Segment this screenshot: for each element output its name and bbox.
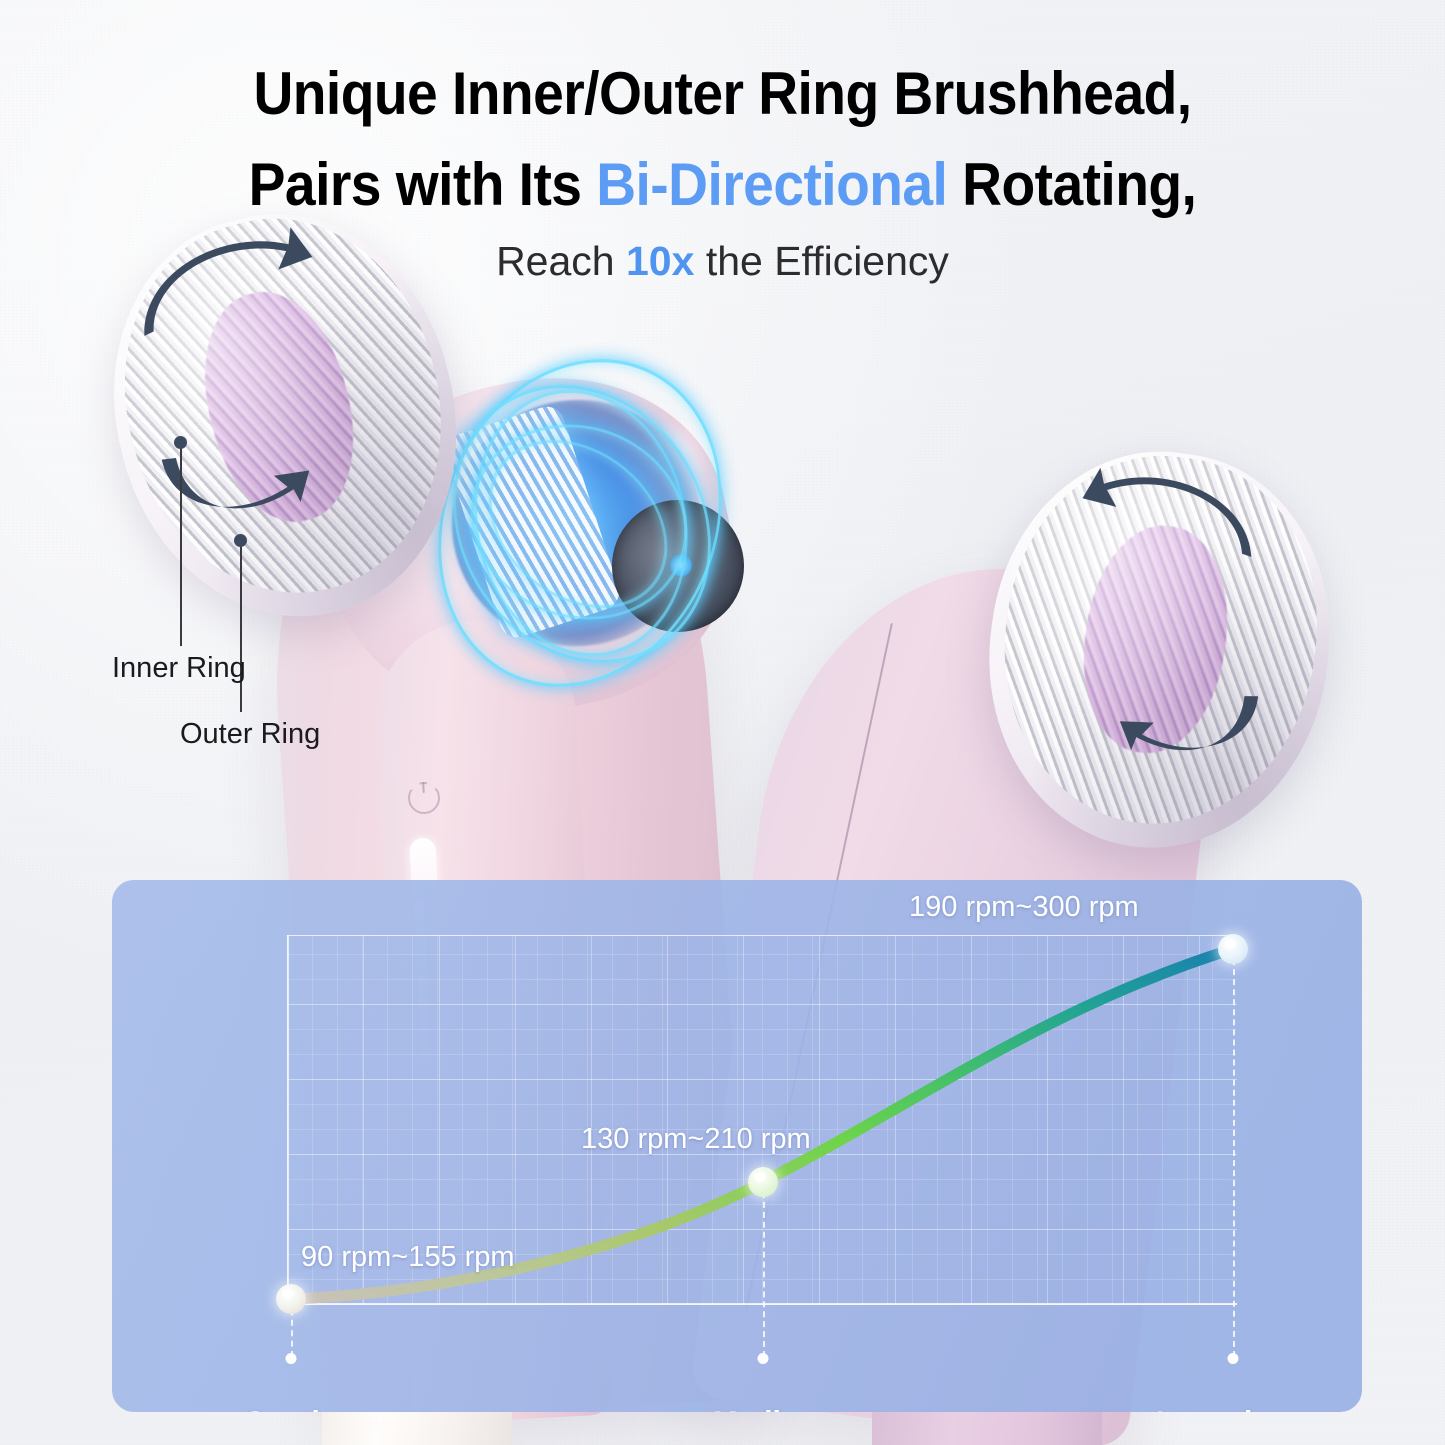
marker-gloss	[754, 1172, 766, 1182]
headline-line-1: Unique Inner/Outer Ring Brushhead,	[58, 48, 1387, 139]
callout-label-inner-ring: Inner Ring	[112, 652, 246, 685]
headline-line-1-text: Unique Inner/Outer Ring Brushhead,	[253, 60, 1191, 127]
drop-dot-gentle	[286, 1353, 297, 1364]
data-point-medium[interactable]	[748, 1167, 778, 1197]
inner-ring-marker-dot	[174, 436, 187, 449]
x-axis-label-medium: Medium	[713, 1405, 826, 1412]
headline-line-2-post: Rotating,	[947, 151, 1196, 218]
headline-accent-text: Bi-Directional	[596, 151, 947, 218]
outer-ring-marker-dot	[234, 534, 247, 547]
inner-ring-leader-line	[180, 446, 182, 646]
drop-dot-intensive	[1228, 1353, 1239, 1364]
outer-ring-leader-line	[240, 544, 242, 712]
marker-gloss	[282, 1289, 294, 1299]
callout-label-outer-ring: Outer Ring	[180, 718, 320, 751]
data-label-medium: 130 rpm~210 rpm	[581, 1123, 811, 1156]
subhead-pre: Reach	[496, 238, 626, 284]
speed-chart-panel: 90 rpm~155 rpm 130 rpm~210 rpm 190 rpm~3…	[112, 880, 1362, 1412]
drop-line-medium	[763, 1182, 765, 1357]
page-subtitle: Reach 10x the Efficiency	[0, 238, 1445, 285]
x-axis-label-gentle: Gentle	[243, 1405, 336, 1412]
marker-gloss	[1224, 939, 1236, 949]
page-title: Unique Inner/Outer Ring Brushhead, Pairs…	[58, 48, 1387, 230]
brush-head-right	[964, 430, 1354, 869]
headline-line-2: Pairs with Its Bi-Directional Rotating,	[58, 139, 1387, 230]
chart-plot-area: 90 rpm~155 rpm 130 rpm~210 rpm 190 rpm~3…	[287, 935, 1237, 1305]
infographic-canvas: Unique Inner/Outer Ring Brushhead, Pairs…	[0, 0, 1445, 1445]
device-handle-bottom-right	[872, 1412, 1102, 1445]
data-label-gentle: 90 rpm~155 rpm	[301, 1241, 515, 1274]
device-handle-bottom-left	[322, 1412, 512, 1445]
subhead-emphasis: 10x	[626, 238, 694, 284]
headline-line-2-pre: Pairs with Its	[249, 151, 597, 218]
subhead-post: the Efficiency	[694, 238, 949, 284]
drop-line-intensive	[1233, 949, 1235, 1357]
data-label-intensive: 190 rpm~300 rpm	[909, 891, 1139, 924]
data-point-gentle[interactable]	[276, 1284, 306, 1314]
x-axis-label-intensive: Intensive	[1156, 1405, 1286, 1412]
drop-dot-medium	[758, 1353, 769, 1364]
data-point-intensive[interactable]	[1218, 934, 1248, 964]
